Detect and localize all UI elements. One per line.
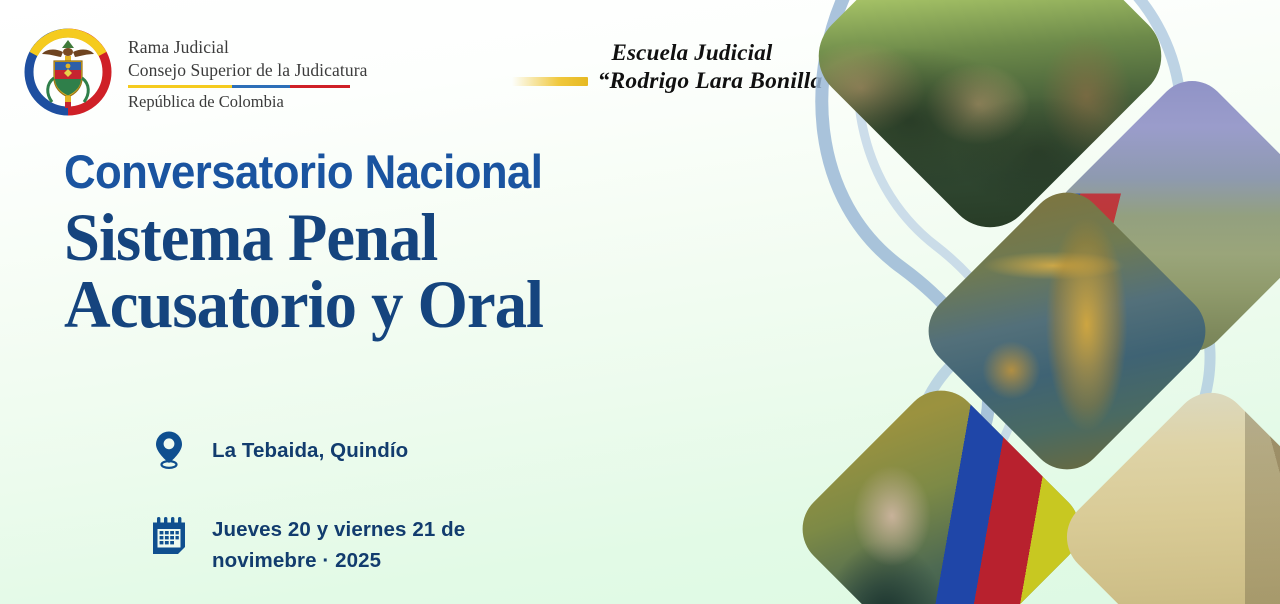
logo-line-rama-judicial: Rama Judicial [128,36,368,59]
event-date-line1: Jueves 20 y viernes 21 de [212,518,465,541]
event-title: Sistema Penal Acusatorio y Oral [64,202,553,339]
event-title-block: Conversatorio Nacional Sistema Penal Acu… [64,148,578,340]
colombia-coat-of-arms-icon [22,26,114,118]
event-banner: Rama Judicial Consejo Superior de la Jud… [0,0,1280,604]
tricolor-divider [128,85,350,88]
event-kicker: Conversatorio Nacional [64,148,542,196]
event-location-row: La Tebaida, Quindío [148,426,465,474]
logo-line-republica: República de Colombia [128,92,368,112]
judicial-branch-logo: Rama Judicial Consejo Superior de la Jud… [22,26,368,118]
logo-line-consejo-superior: Consejo Superior de la Judicatura [128,59,368,82]
event-title-line2: Acusatorio y Oral [64,269,553,340]
event-date-line2: novimebre · 2025 [212,549,381,572]
event-date-row: Jueves 20 y viernes 21 de novimebre · 20… [148,512,465,576]
event-details: La Tebaida, Quindío [148,426,465,576]
flourish-left-icon [512,77,588,86]
escuela-judicial-line2: “Rodrigo Lara Bonilla” [598,68,835,95]
calendar-icon [148,512,190,560]
event-date-text: Jueves 20 y viernes 21 de novimebre · 20… [212,512,465,576]
event-title-line1: Sistema Penal [64,199,437,275]
photo-collage [810,0,1280,604]
map-pin-icon [148,426,190,474]
event-location-text: La Tebaida, Quindío [212,426,408,466]
